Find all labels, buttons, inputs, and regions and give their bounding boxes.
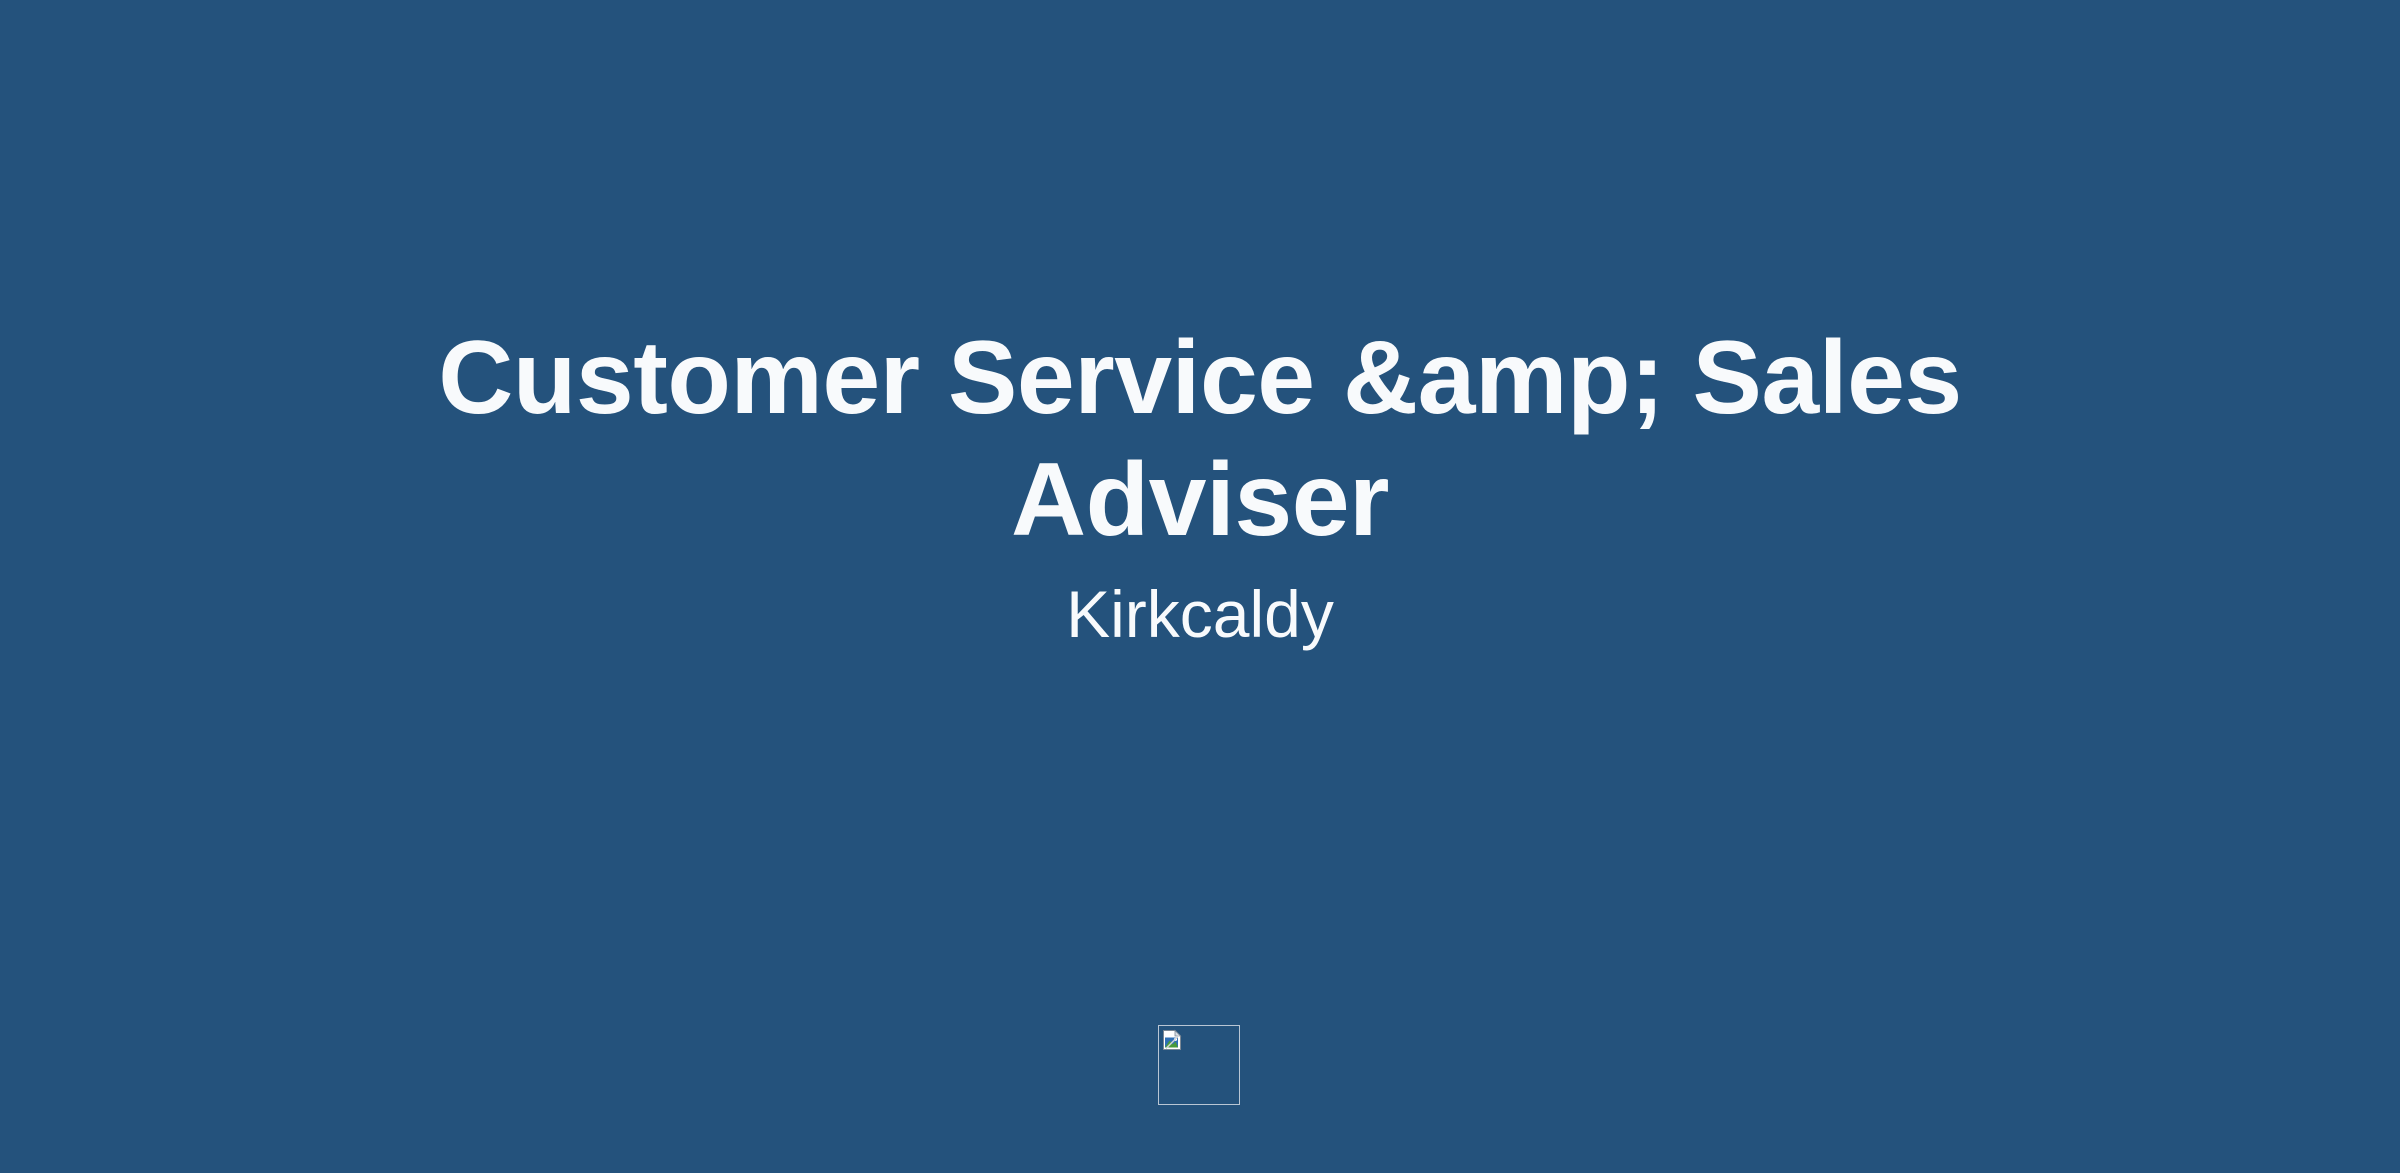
hero-section: Customer Service &amp; Sales Adviser Kir… bbox=[0, 0, 2400, 655]
page-subtitle-location: Kirkcaldy bbox=[0, 575, 2400, 654]
broken-image-icon bbox=[1162, 1029, 1184, 1051]
logo-image-placeholder[interactable] bbox=[1158, 1025, 1240, 1105]
page-title: Customer Service &amp; Sales Adviser bbox=[340, 318, 2060, 561]
page-root: Customer Service &amp; Sales Adviser Kir… bbox=[0, 0, 2400, 1173]
